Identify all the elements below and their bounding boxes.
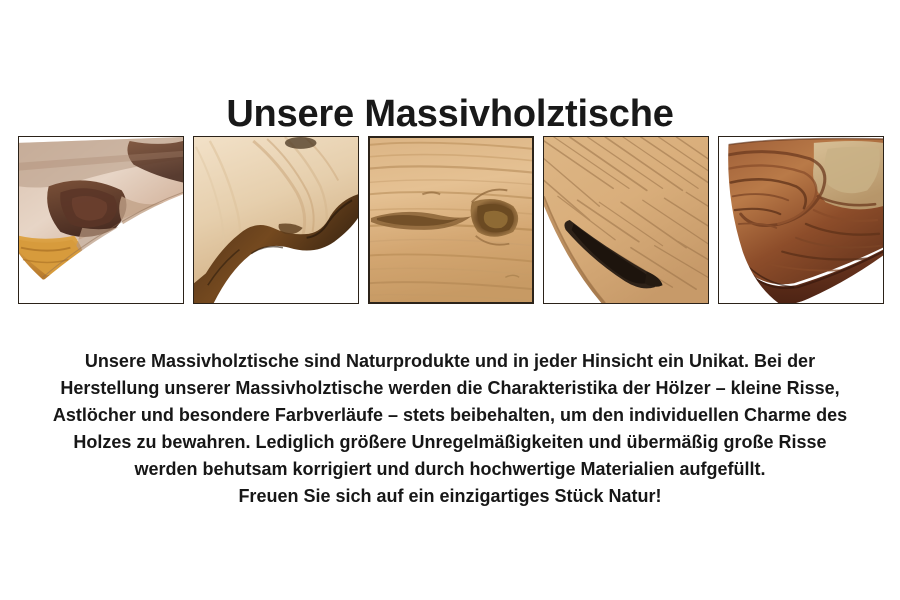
description-line-1: Unsere Massivholztische sind Naturproduk…: [20, 348, 880, 375]
wood-photo-live-edge-icon: [194, 137, 358, 303]
description-line-4: Holzes zu bewahren. Lediglich größere Un…: [20, 429, 880, 456]
wood-photo-grain-knot-icon: [369, 137, 533, 303]
wood-photo-sheesham-corner-icon: [719, 137, 883, 303]
description-line-2: Herstellung unserer Massivholztische wer…: [20, 375, 880, 402]
gallery-image-3[interactable]: [368, 136, 534, 304]
image-gallery: [18, 136, 884, 304]
page-title: Unsere Massivholztische: [0, 91, 900, 137]
wood-photo-crack-icon: [544, 137, 708, 303]
gallery-image-2[interactable]: [193, 136, 359, 304]
description-text: Unsere Massivholztische sind Naturproduk…: [20, 348, 880, 510]
description-line-3: Astlöcher und besondere Farbverläufe – s…: [20, 402, 880, 429]
page-root: Unsere Massivholztische: [0, 0, 900, 600]
gallery-image-5[interactable]: [718, 136, 884, 304]
description-paragraph: Unsere Massivholztische sind Naturproduk…: [20, 348, 880, 510]
gallery-image-4[interactable]: [543, 136, 709, 304]
description-line-5: werden behutsam korrigiert und durch hoc…: [20, 456, 880, 483]
wood-photo-corner-burl-icon: [19, 137, 183, 303]
gallery-image-1[interactable]: [18, 136, 184, 304]
description-line-6: Freuen Sie sich auf ein einzigartiges St…: [20, 483, 880, 510]
